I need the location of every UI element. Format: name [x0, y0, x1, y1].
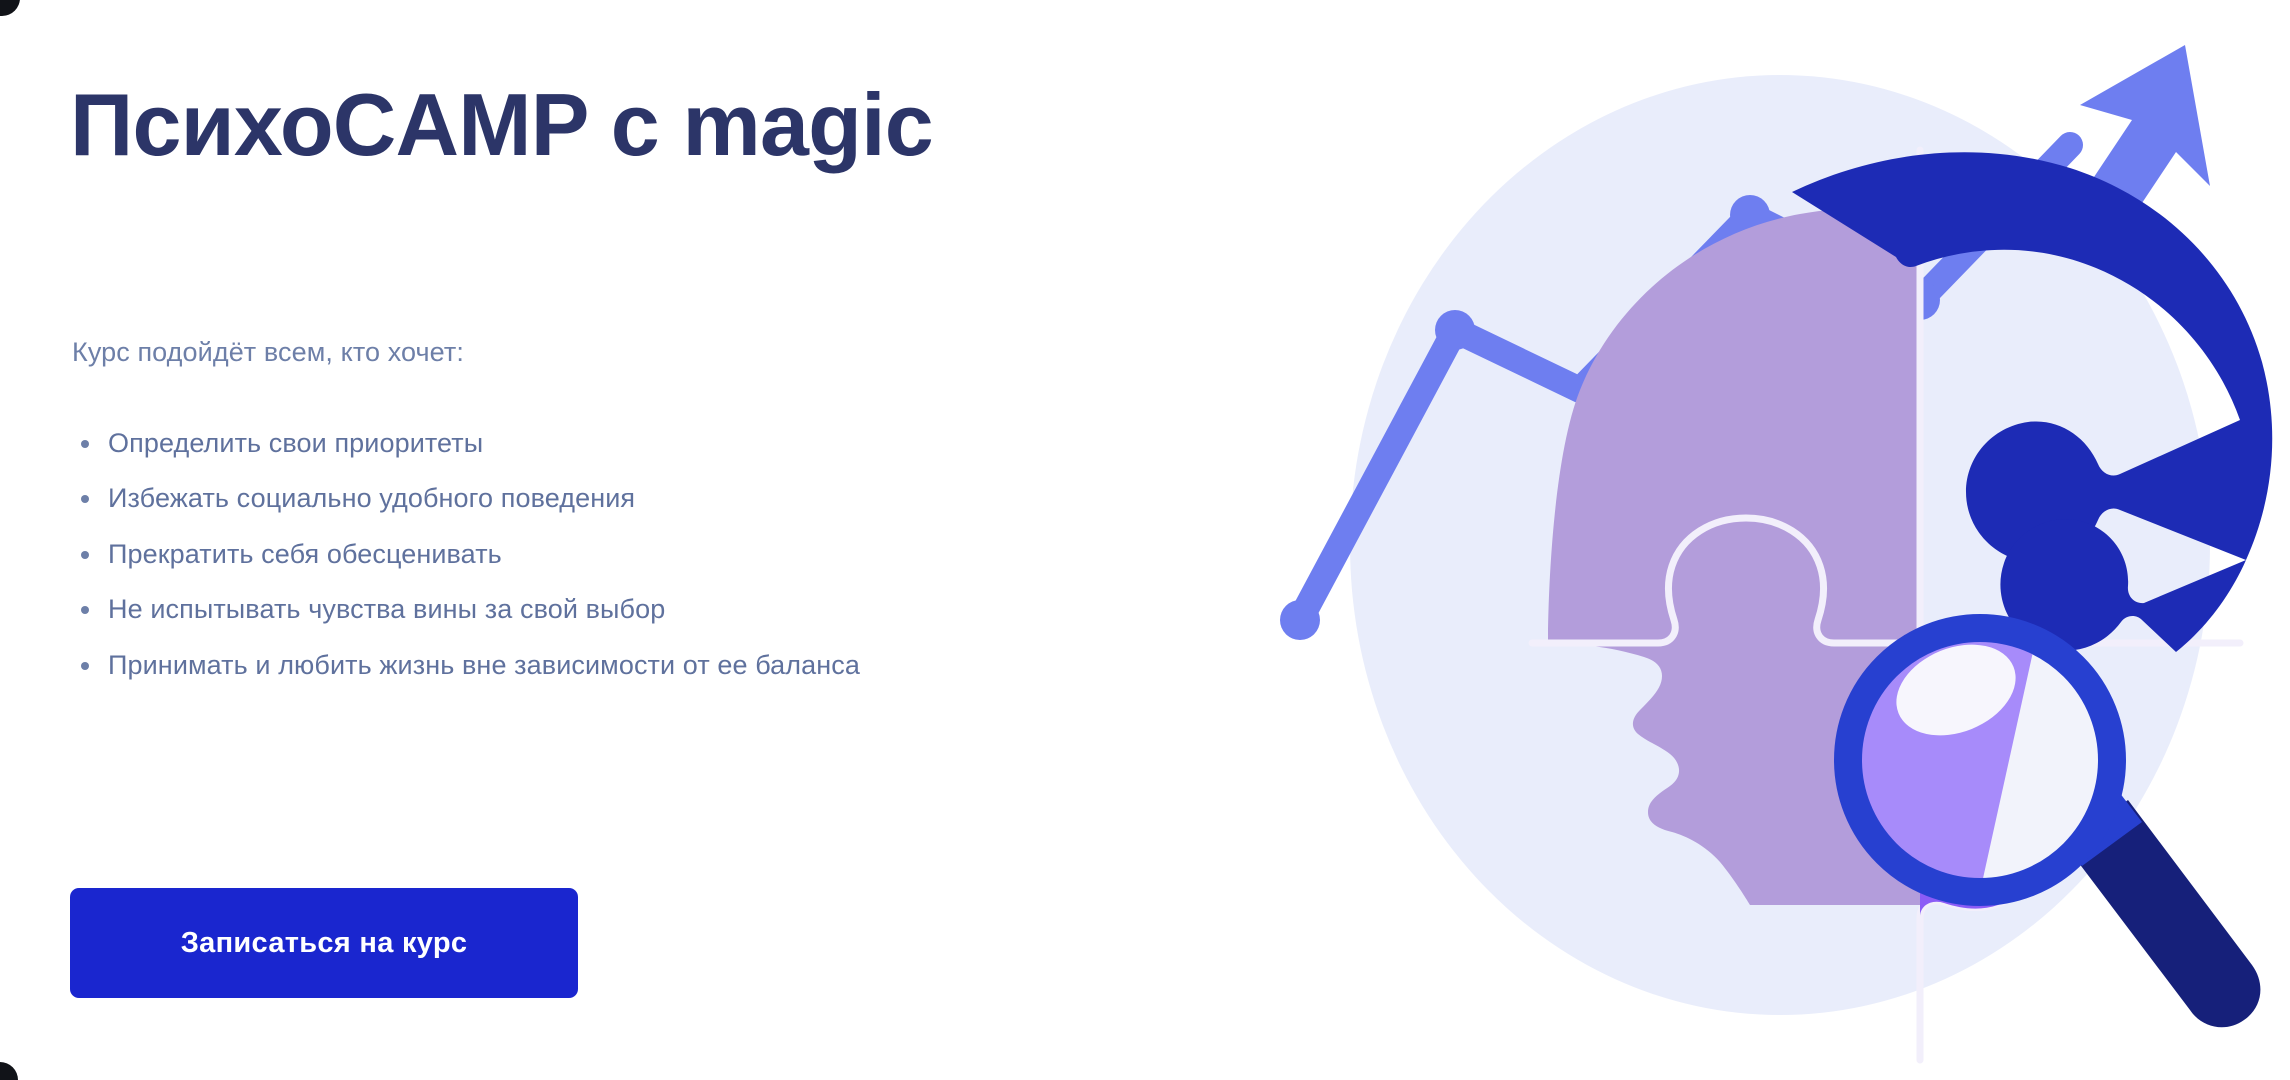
list-item: Принимать и любить жизнь вне зависимости… — [72, 647, 860, 683]
bullet-icon — [81, 551, 89, 559]
list-item: Избежать социально удобного поведения — [72, 480, 860, 516]
head-puzzle-growth-chart-magnifier-illustration — [1280, 0, 2290, 1080]
list-item-label: Принимать и любить жизнь вне зависимости… — [108, 650, 860, 680]
list-item-label: Определить свои приоритеты — [108, 428, 483, 458]
bullet-icon — [81, 495, 89, 503]
page-title: ПсихоCAMP с magic — [70, 78, 933, 171]
list-item-label: Прекратить себя обесценивать — [108, 539, 502, 569]
top-left-corner-artifact — [0, 0, 20, 16]
list-item-label: Не испытывать чувства вины за свой выбор — [108, 594, 665, 624]
list-item: Не испытывать чувства вины за свой выбор — [72, 591, 860, 627]
enroll-course-button[interactable]: Записаться на курс — [70, 888, 578, 998]
benefits-list: Определить свои приоритеты Избежать соци… — [72, 425, 860, 683]
bullet-icon — [81, 662, 89, 670]
list-item: Прекратить себя обесценивать — [72, 536, 860, 572]
hero-lead-text: Курс подойдёт всем, кто хочет: — [72, 334, 464, 372]
hero-illustration — [1280, 0, 2290, 1080]
landing-hero-page: ПсихоCAMP с magic Курс подойдёт всем, кт… — [0, 0, 2290, 1080]
list-item: Определить свои приоритеты — [72, 425, 860, 461]
bullet-icon — [81, 440, 89, 448]
list-item-label: Избежать социально удобного поведения — [108, 483, 635, 513]
bottom-left-corner-artifact — [0, 1062, 18, 1080]
bullet-icon — [81, 606, 89, 614]
